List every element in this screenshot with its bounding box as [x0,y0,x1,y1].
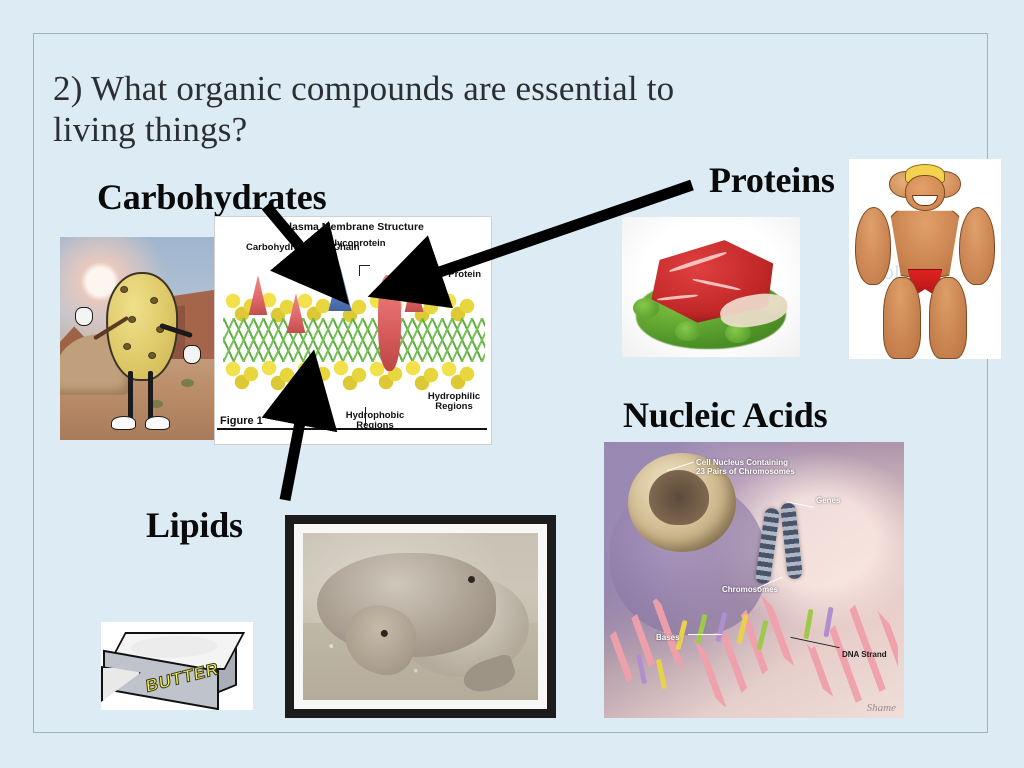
phospholipid-tails [223,318,485,362]
nucleic-acids-image: Cell Nucleus Containing 23 Pairs of Chro… [604,442,904,718]
heading-lipids: Lipids [146,504,243,546]
title-line-1: 2) What organic compounds are essential … [53,68,873,109]
dna-double-helix [610,580,898,712]
seal-photograph [303,533,538,700]
artist-signature: Shame [867,702,896,714]
diagram-baseline [217,428,487,430]
carbohydrate-side-chain-shape [359,265,370,276]
lettuce-frill [675,321,701,341]
potato-eye-spot [150,297,158,304]
nucleus-opening [649,470,709,525]
leader-line [688,634,722,635]
heading-proteins: Proteins [709,159,835,201]
steak-marbling [692,278,740,291]
label-figure-caption: Figure 1 [220,416,263,428]
seal-eye [380,629,389,638]
phospholipid-heads-bottom [223,357,485,391]
leader-line [313,257,331,258]
bodybuilder-image: fotolia [849,159,1001,359]
seal-eye [468,576,475,583]
dna-ribbon [610,580,898,712]
dna-base-pair [656,659,667,689]
potato-eye-spot [120,286,128,293]
potato-right-glove [183,345,201,364]
label-cell-nucleus-line1: Cell Nucleus Containing [696,458,795,467]
bodybuilder-right-leg [929,277,967,359]
label-hydrophilic-regions: Hydrophilic Regions [423,392,485,413]
plasma-membrane-diagram: Plasma Membrane Structure Carbohydrate S… [214,216,492,445]
label-dna-strand: DNA Strand [842,650,887,659]
slide-canvas: 2) What organic compounds are essential … [0,0,1024,768]
label-protein: Protein [448,270,481,280]
label-glycoprotein: Glycoprotein [327,239,386,249]
seal-photo-frame [285,515,556,718]
bodybuilder-left-arm [855,207,891,285]
membrane-diagram-title: Plasma Membrane Structure [215,221,491,233]
label-bases: Bases [656,633,680,642]
heading-carbohydrates: Carbohydrates [97,176,326,218]
butter-image: BUTTER [101,622,253,710]
lettuce-frill [633,298,659,318]
potato-left-shoe [111,416,136,430]
potato-left-leg [128,371,133,420]
steak-marbling [657,294,698,301]
page-title: 2) What organic compounds are essential … [53,68,873,151]
potato-image [60,237,215,440]
heading-nucleic-acids: Nucleic Acids [623,394,827,436]
label-cell-nucleus: Cell Nucleus Containing 23 Pairs of Chro… [696,458,795,476]
leader-line [365,407,366,425]
potato-right-leg [148,371,153,420]
dna-base-pair [696,614,708,644]
transmembrane-protein-shape [378,275,401,371]
potato-eye-spot [123,343,131,350]
steak-image [622,217,800,357]
label-chromosomes: Chromosomes [722,585,778,594]
label-genes: Genes [816,496,840,505]
label-cell-nucleus-line2: 23 Pairs of Chromosomes [696,467,795,476]
dna-base-pair [803,609,813,639]
potato-eye-spot [129,316,137,323]
potato-left-glove [75,307,93,326]
potato-eye-spot [148,352,156,359]
bodybuilder-left-leg [883,277,921,359]
title-line-2: living things? [53,109,873,150]
bodybuilder-right-arm [959,207,995,285]
carbohydrate-side-chain-shape [311,269,322,280]
potato-right-shoe [145,416,170,430]
